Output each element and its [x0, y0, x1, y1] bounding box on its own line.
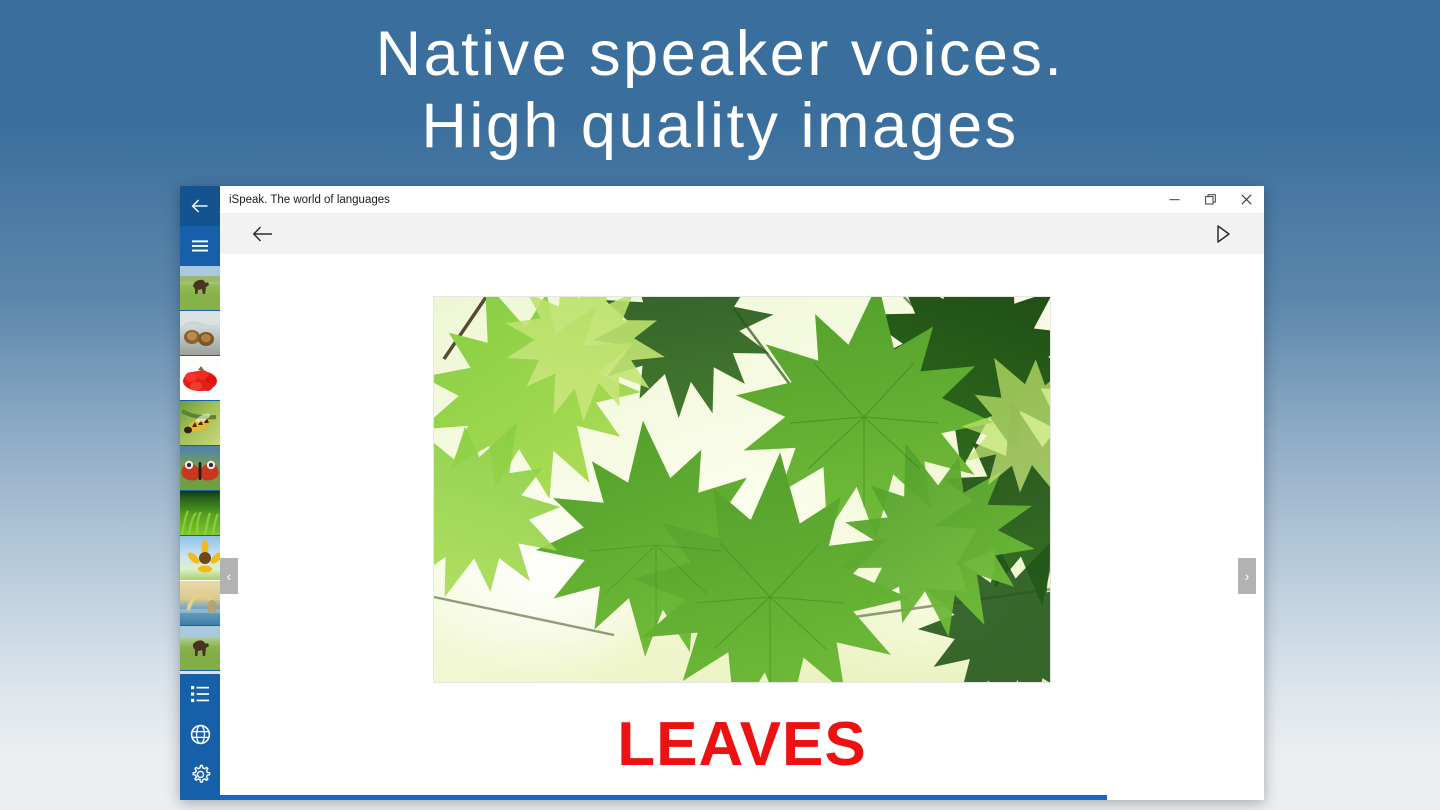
rail-list-button[interactable] [180, 674, 220, 714]
horse-silhouette-icon [180, 266, 220, 310]
thumbnail-peacock-butterfly[interactable] [180, 446, 220, 491]
restore-button[interactable] [1192, 186, 1228, 213]
app-main-pane: iSpeak. The world of languages [220, 186, 1264, 800]
hamburger-icon [191, 239, 209, 253]
grass-icon [180, 491, 220, 535]
play-icon [1214, 224, 1232, 244]
close-icon [1241, 194, 1252, 205]
thumbnail-crane-on-beach[interactable] [180, 581, 220, 626]
promo-headline: Native speaker voices. High quality imag… [0, 18, 1440, 162]
butterfly-icon [180, 446, 220, 490]
minimize-icon [1169, 194, 1180, 205]
thumb-art [180, 581, 220, 625]
thumbnail-walnuts-2[interactable] [180, 671, 220, 674]
thumb-art [180, 356, 220, 400]
restore-icon [1205, 194, 1216, 205]
title-bar: iSpeak. The world of languages [220, 186, 1264, 214]
thumb-art [180, 266, 220, 310]
next-card-button[interactable]: › [1238, 558, 1256, 594]
thumb-art [180, 311, 220, 355]
window-title: iSpeak. The world of languages [220, 194, 1156, 206]
thumbnail-wasp-on-branch[interactable] [180, 401, 220, 446]
thumbnail-strip[interactable] [180, 266, 220, 674]
close-button[interactable] [1228, 186, 1264, 213]
strawberries-icon [180, 356, 220, 400]
rail-bottom-actions [180, 674, 220, 800]
horse-silhouette-icon [180, 626, 220, 670]
rail-settings-button[interactable] [180, 754, 220, 794]
toolbar-back-button[interactable] [246, 217, 280, 251]
toolbar-play-button[interactable] [1206, 217, 1240, 251]
next-arrow-icon: › [1245, 568, 1250, 584]
crane-icon [180, 581, 220, 625]
back-arrow-icon [191, 199, 209, 213]
thumbnail-sunflower[interactable] [180, 536, 220, 581]
app-window: iSpeak. The world of languages [180, 186, 1264, 800]
thumb-art [180, 446, 220, 490]
thumb-art [180, 671, 220, 674]
flashcard-image [433, 296, 1051, 683]
back-arrow-icon [252, 225, 274, 243]
thumb-art [180, 626, 220, 670]
globe-icon [190, 724, 211, 745]
promo-backdrop: Native speaker voices. High quality imag… [0, 0, 1440, 810]
flashcard-area: LEAVES ‹ › [220, 254, 1264, 800]
list-icon [190, 685, 210, 703]
flashcard-word: LEAVES [617, 713, 866, 777]
rail-back-button[interactable] [180, 186, 220, 226]
thumbnail-green-grass[interactable] [180, 491, 220, 536]
progress-track[interactable] [220, 795, 1264, 800]
minimize-button[interactable] [1156, 186, 1192, 213]
thumbnail-strawberries[interactable] [180, 356, 220, 401]
nav-rail [180, 186, 220, 800]
gear-icon [190, 764, 211, 785]
prev-arrow-icon: ‹ [227, 568, 232, 584]
thumbnail-horse-in-field-2[interactable] [180, 626, 220, 671]
rail-globe-button[interactable] [180, 714, 220, 754]
sunflower-icon [180, 536, 220, 580]
walnuts-icon [180, 671, 220, 674]
wasp-icon [180, 401, 220, 445]
prev-card-button[interactable]: ‹ [220, 558, 238, 594]
thumbnail-horse-in-field[interactable] [180, 266, 220, 311]
toolbar [220, 214, 1264, 254]
thumb-art [180, 491, 220, 535]
walnuts-icon [180, 311, 220, 355]
thumbnail-walnuts[interactable] [180, 311, 220, 356]
maple-leaves-illustration [434, 297, 1051, 683]
thumb-art [180, 536, 220, 580]
thumb-art [180, 401, 220, 445]
progress-fill [220, 795, 1107, 800]
rail-hamburger-button[interactable] [180, 226, 220, 266]
